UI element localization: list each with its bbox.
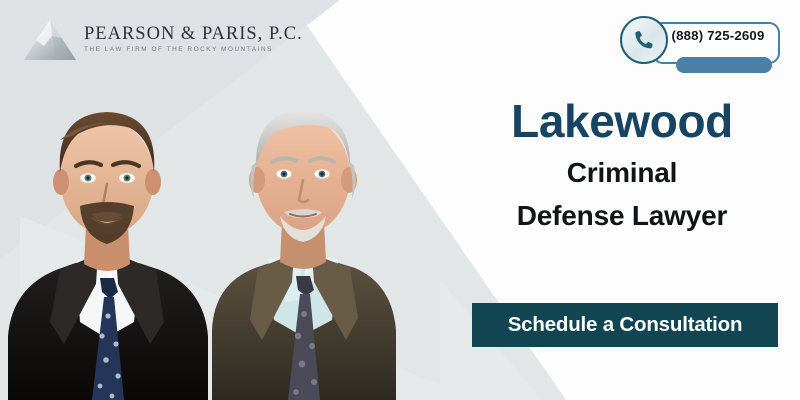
brand-tagline: THE LAW FIRM OF THE ROCKY MOUNTAINS xyxy=(84,47,303,53)
brand-text: PEARSON & PARIS, P.C. THE LAW FIRM OF TH… xyxy=(84,25,303,54)
hero-city-headline: Lakewood xyxy=(511,98,733,146)
brand-logo[interactable]: PEARSON & PARIS, P.C. THE LAW FIRM OF TH… xyxy=(22,16,303,62)
phone-number[interactable]: (888) 725-2609 xyxy=(658,28,778,43)
phone-icon-circle[interactable] xyxy=(620,16,668,64)
phone-icon xyxy=(632,28,656,52)
brand-name: PEARSON & PARIS, P.C. xyxy=(84,25,303,44)
schedule-consultation-button[interactable]: Schedule a Consultation xyxy=(472,303,778,347)
phone-widget[interactable]: (888) 725-2609 xyxy=(620,16,782,74)
hero-text-block: Lakewood Criminal Defense Lawyer xyxy=(462,98,782,233)
hero-banner: PEARSON & PARIS, P.C. THE LAW FIRM OF TH… xyxy=(0,0,800,400)
hero-subheadline-line1: Criminal xyxy=(567,156,677,190)
hero-subheadline-line2: Defense Lawyer xyxy=(517,199,727,233)
mountain-icon xyxy=(22,16,78,62)
phone-pill-accent xyxy=(676,57,772,73)
